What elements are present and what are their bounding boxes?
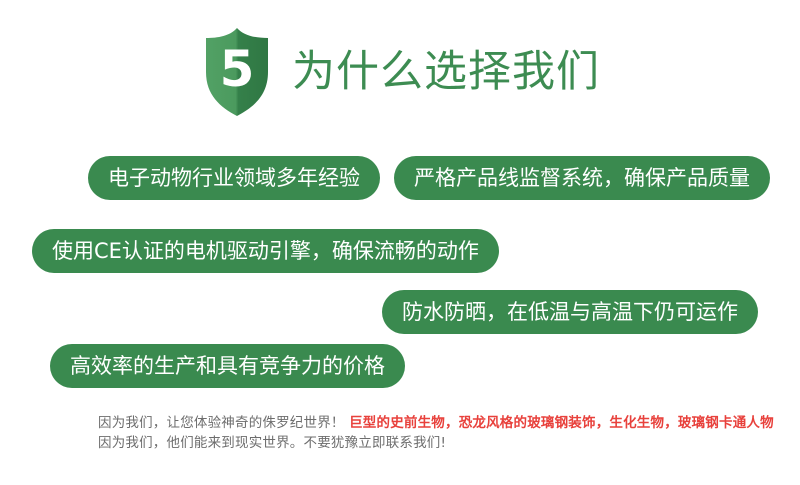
footer-highlight-products: 巨型的史前生物，恐龙风格的玻璃钢装饰，生化生物，玻璃钢卡通人物 [349, 415, 774, 431]
feature-row: 防水防晒，在低温与高温下仍可运作 [0, 290, 800, 334]
shield-badge: 5 [200, 27, 274, 117]
feature-pill[interactable]: 防水防晒，在低温与高温下仍可运作 [382, 290, 758, 334]
feature-row: 使用CE认证的电机驱动引擎，确保流畅的动作 [0, 229, 800, 273]
footer-line-1: 因为我们，让您体验神奇的侏罗纪世界！ 巨型的史前生物，恐龙风格的玻璃钢装饰，生化… [98, 413, 758, 433]
feature-pill[interactable]: 电子动物行业领域多年经验 [88, 156, 380, 200]
page-title: 为什么选择我们 [292, 51, 600, 94]
footer-line-2: 因为我们，他们能来到现实世界。不要犹豫立即联系我们! [98, 433, 758, 453]
feature-row: 高效率的生产和具有竞争力的价格 [0, 344, 800, 388]
feature-pill[interactable]: 高效率的生产和具有竞争力的价格 [50, 344, 405, 388]
feature-pill[interactable]: 使用CE认证的电机驱动引擎，确保流畅的动作 [32, 229, 499, 273]
footer-paragraph: 因为我们，让您体验神奇的侏罗纪世界！ 巨型的史前生物，恐龙风格的玻璃钢装饰，生化… [98, 413, 758, 453]
badge-number: 5 [200, 27, 274, 117]
page-header: 5 为什么选择我们 [0, 24, 800, 120]
feature-row: 电子动物行业领域多年经验 严格产品线监督系统，确保产品质量 [0, 156, 800, 200]
footer-line-1-lead: 因为我们，让您体验神奇的侏罗纪世界！ [98, 415, 349, 431]
feature-pill[interactable]: 严格产品线监督系统，确保产品质量 [394, 156, 770, 200]
promo-page: 5 为什么选择我们 电子动物行业领域多年经验 严格产品线监督系统，确保产品质量 … [0, 0, 800, 485]
feature-list: 电子动物行业领域多年经验 严格产品线监督系统，确保产品质量 使用CE认证的电机驱… [0, 150, 800, 390]
